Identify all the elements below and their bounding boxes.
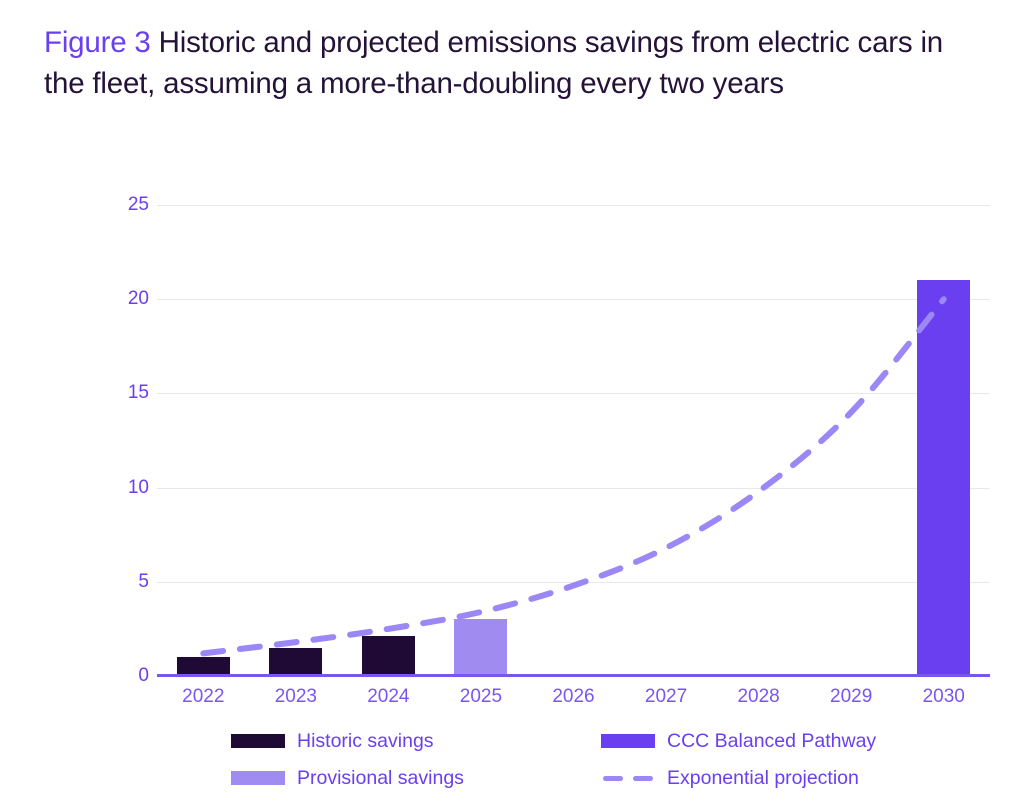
legend-item-historic-savings[interactable]: Historic savings [231,728,434,754]
legend-swatch-icon [601,734,655,748]
legend-swatch-icon [231,771,285,785]
x-axis-tick-label: 2028 [711,686,807,708]
bar [454,619,507,676]
chart-container: Annual EV emissions savings (MtCO2e) 051… [0,0,1024,809]
y-axis-tick-label: 0 [105,665,149,687]
gridline [157,488,990,489]
legend-item-ccc-balanced-pathway[interactable]: CCC Balanced Pathway [601,728,876,754]
bar [362,636,415,676]
legend-dash-marker-icon [601,771,655,785]
legend-item-exponential-projection[interactable]: Exponential projection [601,765,859,791]
legend-item-provisional-savings[interactable]: Provisional savings [231,765,464,791]
gridline [157,299,990,300]
x-axis-tick-label: 2027 [618,686,714,708]
bar [917,280,970,676]
x-axis-tick-label: 2026 [526,686,622,708]
x-axis-tick-label: 2029 [803,686,899,708]
legend-label: Exponential projection [667,767,859,790]
projection-curve [157,205,990,676]
x-axis-tick-label: 2023 [248,686,344,708]
chart-legend: Historic savingsCCC Balanced PathwayProv… [231,728,951,798]
y-axis-tick-label: 5 [105,571,149,593]
x-axis-tick-label: 2022 [155,686,251,708]
legend-label: Provisional savings [297,767,464,790]
y-axis-tick-label: 10 [105,477,149,499]
y-axis-tick-label: 20 [105,288,149,310]
gridline [157,205,990,206]
legend-label: CCC Balanced Pathway [667,730,876,753]
y-axis-tick-label: 25 [105,194,149,216]
legend-swatch-icon [231,734,285,748]
gridline [157,393,990,394]
bar [269,648,322,676]
legend-label: Historic savings [297,730,434,753]
x-axis-tick-label: 2030 [896,686,992,708]
y-axis-tick-label: 15 [105,382,149,404]
plot-area [157,205,990,676]
x-axis-tick-label: 2025 [433,686,529,708]
x-axis-tick-label: 2024 [340,686,436,708]
gridline [157,582,990,583]
x-axis-line [157,674,990,677]
